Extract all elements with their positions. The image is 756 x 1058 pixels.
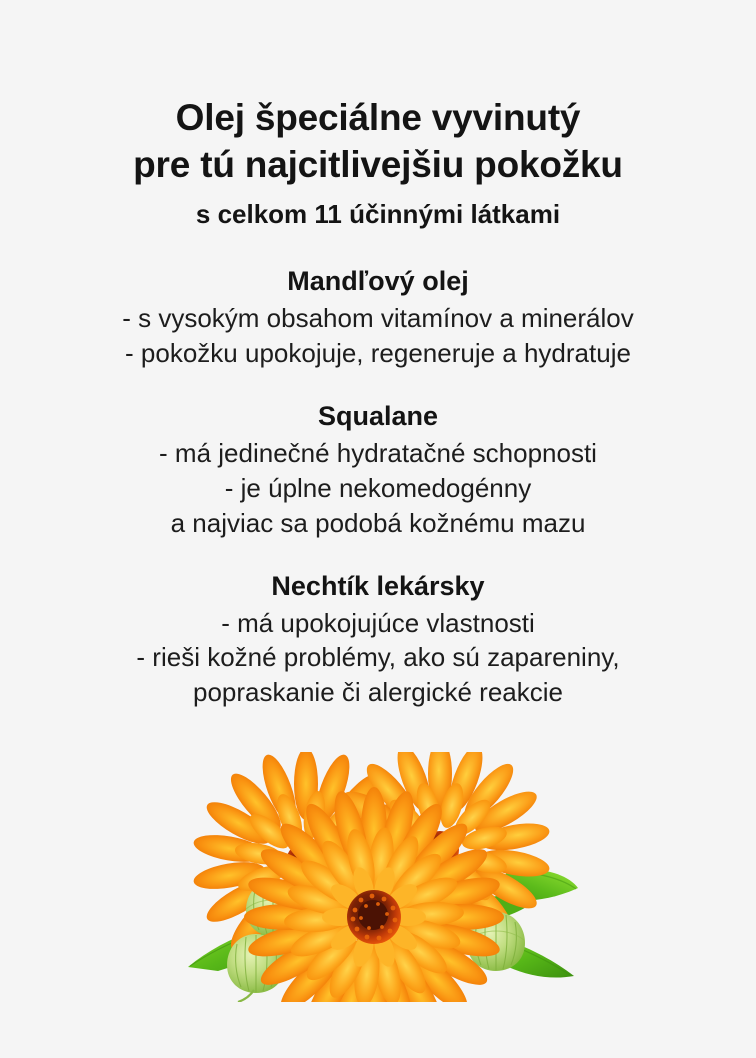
ingredient-benefit-line: - je úplne nekomedogénny: [0, 471, 756, 506]
headline-line-1: Olej špeciálne vyvinutý: [133, 94, 623, 141]
headline-block: Olej špeciálne vyvinutý pre tú najcitliv…: [133, 94, 623, 230]
ingredient-name: Nechtík lekársky: [0, 569, 756, 604]
headline-line-2: pre tú najcitlivejšiu pokožku: [133, 141, 623, 188]
ingredient-benefit-line: - s vysokým obsahom vitamínov a minerálo…: [0, 301, 756, 336]
ingredient-benefit-line: - pokožku upokojuje, regeneruje a hydrat…: [0, 336, 756, 371]
ingredient-benefit-line: - rieši kožné problémy, ako sú zaparenin…: [0, 640, 756, 675]
ingredient-block-almond-oil: Mandľový olej - s vysokým obsahom vitamí…: [0, 264, 756, 371]
ingredient-name: Mandľový olej: [0, 264, 756, 299]
headline-subtitle: s celkom 11 účinnými látkami: [133, 198, 623, 231]
poster-root: Olej špeciálne vyvinutý pre tú najcitliv…: [0, 0, 756, 1058]
ingredient-block-squalane: Squalane - má jedinečné hydratačné schop…: [0, 399, 756, 541]
ingredients-list: Mandľový olej - s vysokým obsahom vitamí…: [0, 264, 756, 710]
ingredient-benefit-line: - má jedinečné hydratačné schopnosti: [0, 436, 756, 471]
ingredient-block-calendula: Nechtík lekársky - má upokojujúce vlastn…: [0, 569, 756, 711]
ingredient-benefit-line: a najviac sa podobá kožnému mazu: [0, 506, 756, 541]
ingredient-benefit-line: popraskanie či alergické reakcie: [0, 675, 756, 710]
ingredient-name: Squalane: [0, 399, 756, 434]
ingredient-benefit-line: - má upokojujúce vlastnosti: [0, 606, 756, 641]
calendula-flowers-image: [178, 752, 578, 1002]
